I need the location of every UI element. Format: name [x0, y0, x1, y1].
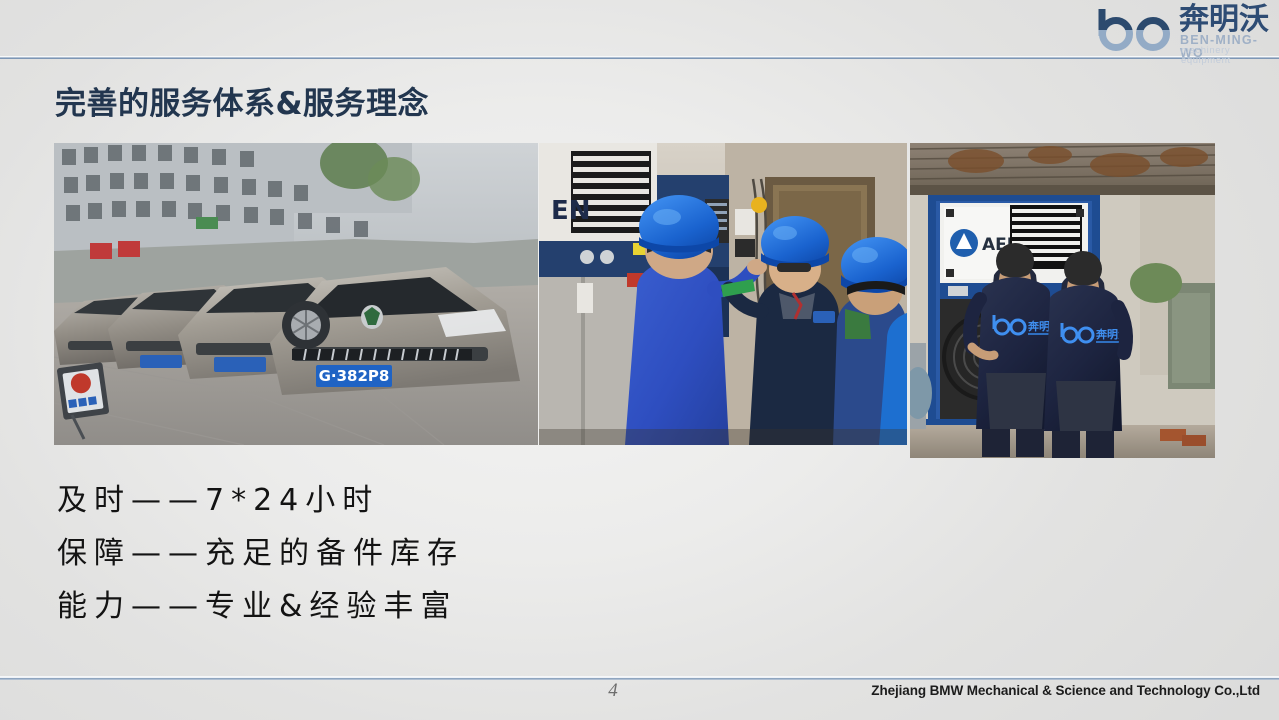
photo-fleet-of-service-cars: G·382P8 — [54, 143, 538, 445]
service-promise-line-2: 保障——充足的备件库存 — [57, 527, 817, 580]
photo-technicians-on-site-inspection: EN — [539, 143, 907, 445]
page-number: 4 — [600, 680, 626, 702]
footer-divider — [0, 676, 1279, 680]
slide-title: 完善的服务体系&服务理念 — [55, 78, 429, 123]
header-divider — [0, 56, 1279, 59]
service-promise-list: 及时——7*24小时 保障——充足的备件库存 能力——专业&经验丰富 — [57, 474, 817, 633]
bo-monogram-icon — [1097, 6, 1179, 51]
slide-header: 奔明沃 BEN-MING-WO machinery equipment — [0, 0, 1279, 58]
svg-text:G·382P8: G·382P8 — [319, 367, 390, 385]
logo-chinese-name: 奔明沃 — [1179, 4, 1269, 36]
svg-text:EN: EN — [551, 196, 591, 226]
logo-tagline: machinery equipment — [1181, 46, 1271, 66]
service-promise-line-1: 及时——7*24小时 — [57, 474, 817, 527]
presentation-slide: 奔明沃 BEN-MING-WO machinery equipment 完善的服… — [0, 0, 1279, 720]
service-promise-line-3: 能力——专业&经验丰富 — [57, 580, 817, 633]
footer-company-name: Zhejiang BMW Mechanical & Science and Te… — [871, 683, 1260, 698]
photo-engineers-servicing-aerzen-unit: AERZEN — [910, 143, 1215, 458]
company-logo: 奔明沃 BEN-MING-WO machinery equipment — [1039, 4, 1271, 54]
